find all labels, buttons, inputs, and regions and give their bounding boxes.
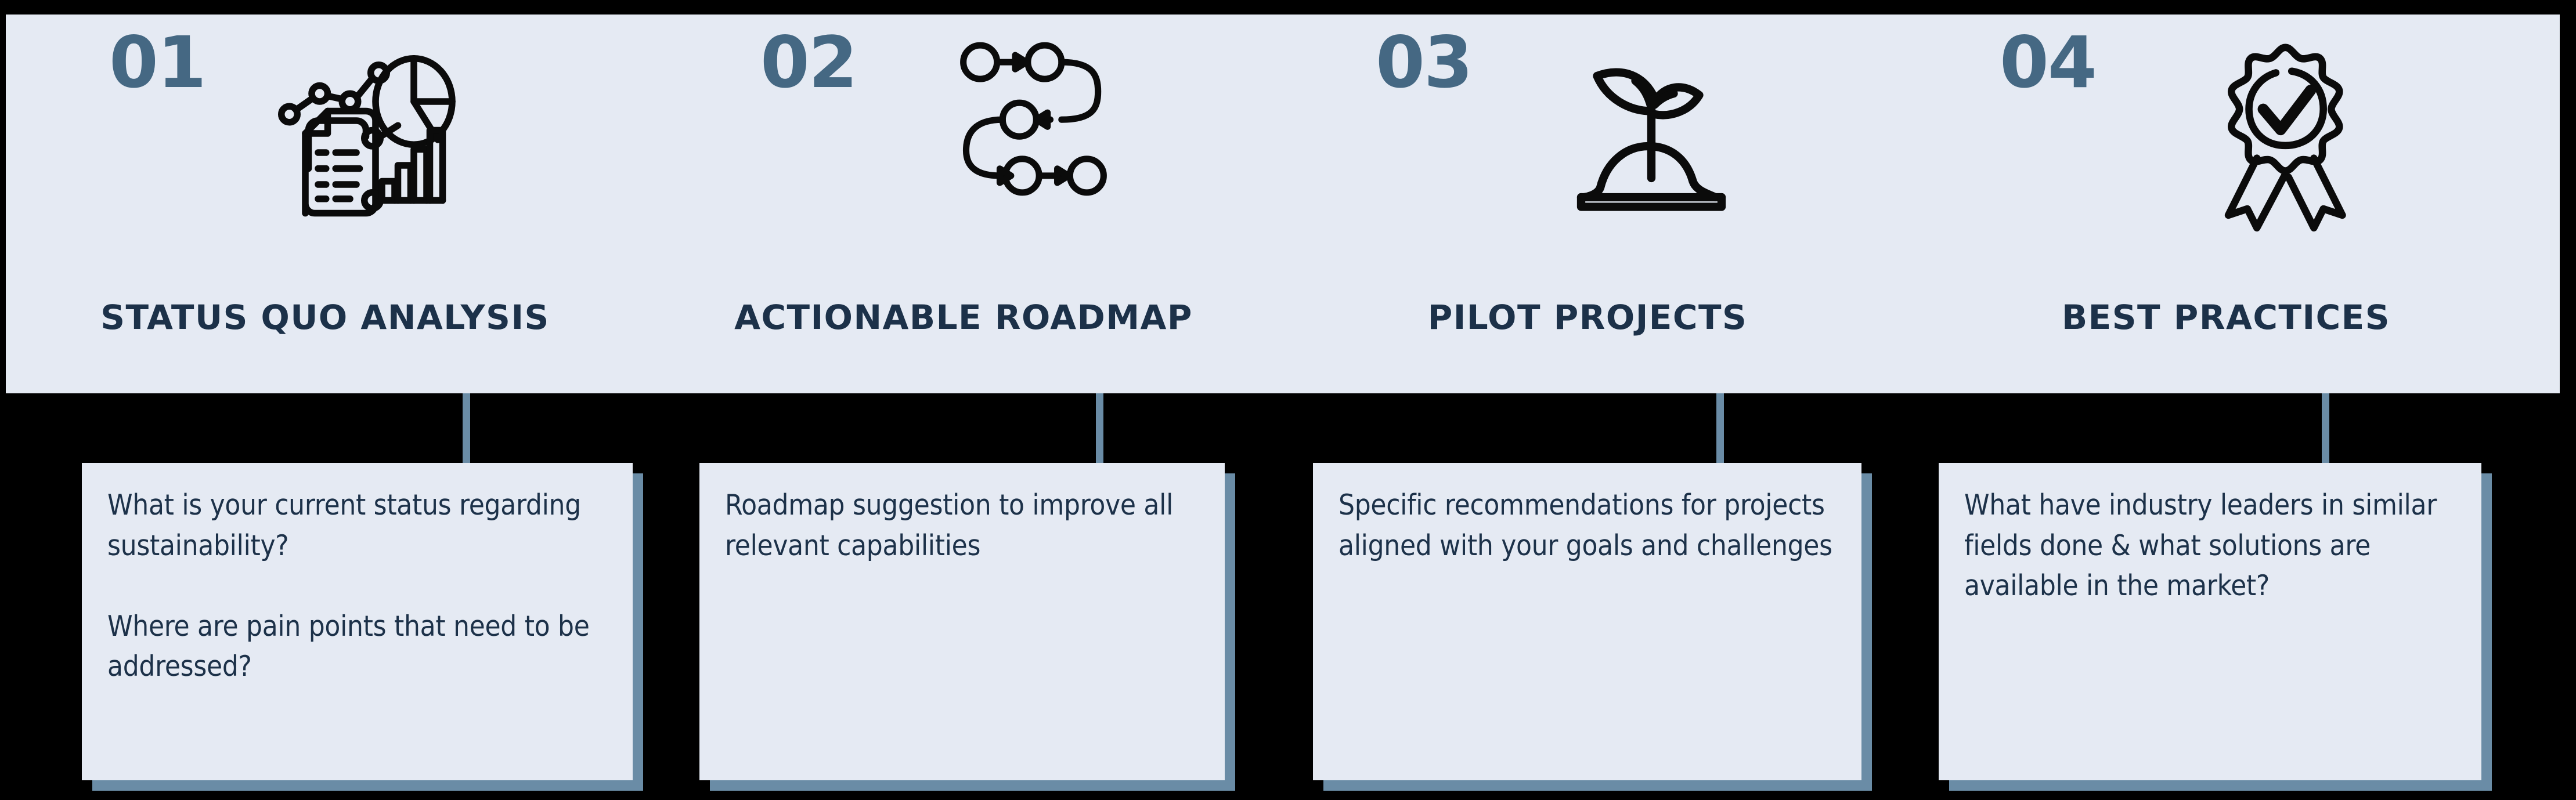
step-title-1: STATUS QUO ANALYSIS — [6, 298, 644, 337]
card-surface: What have industry leaders in similar fi… — [1939, 463, 2481, 780]
card-surface: Roadmap suggestion to improve all releva… — [699, 463, 1225, 780]
card-surface: What is your current status regarding su… — [82, 463, 633, 780]
card-text-2: Roadmap suggestion to improve all releva… — [725, 485, 1199, 566]
step-number-1: 01 — [109, 27, 205, 98]
card-text-3: Specific recommendations for projects al… — [1338, 485, 1836, 566]
step-column-3[interactable]: 03 PILOT PROJECTS — [1283, 15, 1892, 393]
step-number-3: 03 — [1376, 27, 1472, 98]
step-title-4: BEST PRACTICES — [1892, 298, 2560, 337]
card-text-4: What have industry leaders in similar fi… — [1964, 485, 2456, 606]
workflow-path-icon — [958, 38, 1126, 200]
step-title-3: PILOT PROJECTS — [1283, 298, 1892, 337]
steps-banner: 01 — [6, 15, 2560, 393]
award-ribbon-check-icon — [2200, 38, 2374, 241]
seedling-sprout-icon — [1556, 38, 1747, 229]
step-column-1[interactable]: 01 — [6, 15, 644, 393]
connector-line-1 — [463, 393, 470, 464]
connector-line-2 — [1096, 393, 1103, 464]
step-number-4: 04 — [2000, 27, 2096, 98]
card-text-1: What is your current status regarding su… — [107, 485, 607, 687]
step-column-4[interactable]: 04 BEST PRACTICES — [1892, 15, 2560, 393]
connector-line-4 — [2322, 393, 2329, 464]
step-title-2: ACTIONABLE ROADMAP — [644, 298, 1283, 337]
step-number-2: 02 — [760, 27, 857, 98]
step-column-2[interactable]: 02 ACTIONA — [644, 15, 1283, 393]
connector-line-3 — [1716, 393, 1724, 464]
card-surface: Specific recommendations for projects al… — [1313, 463, 1861, 780]
analytics-report-icon — [267, 38, 459, 229]
